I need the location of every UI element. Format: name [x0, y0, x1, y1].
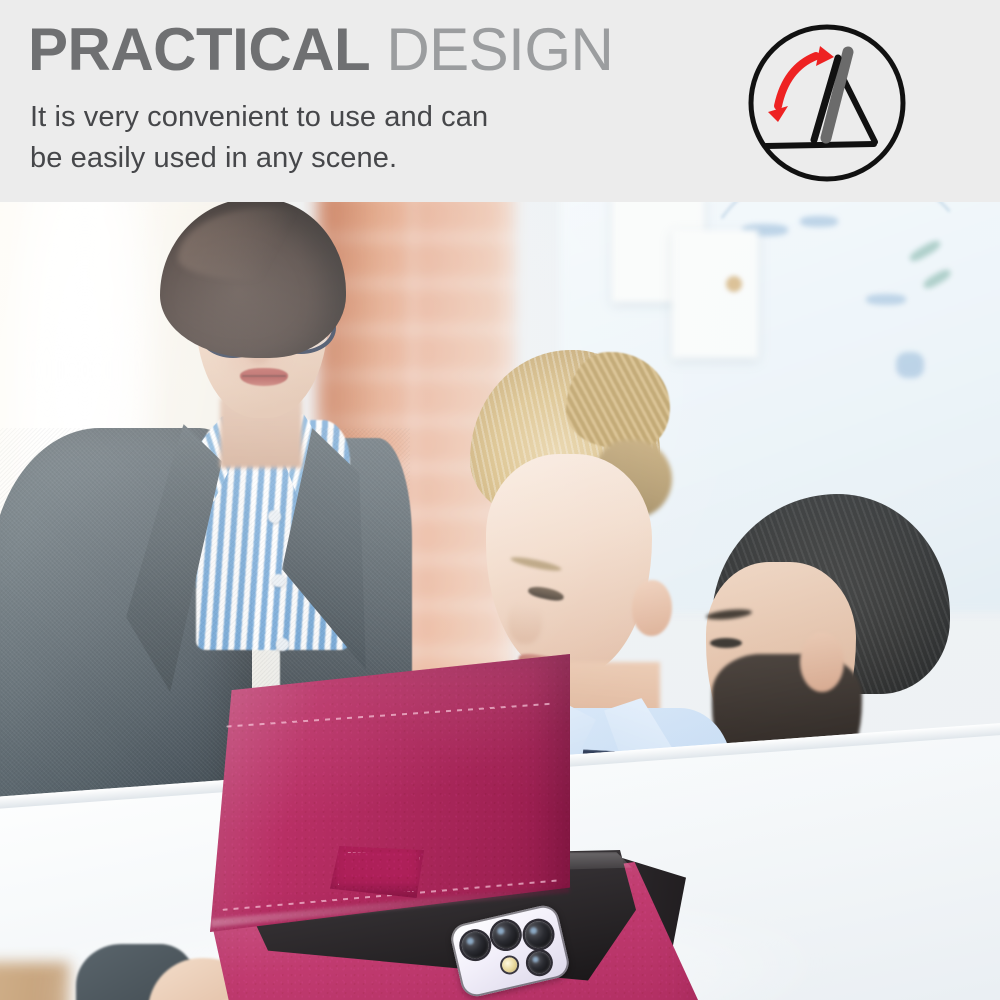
subtitle-line-1: It is very convenient to use and can — [30, 97, 488, 138]
header-band: PRACTICAL DESIGN It is very convenient t… — [0, 0, 1000, 202]
camera-flash — [501, 956, 519, 974]
subtitle: It is very convenient to use and can be … — [30, 97, 488, 179]
camera-lens-telephoto — [522, 918, 554, 950]
wallet-case-product — [0, 202, 1000, 1000]
camera-lens-ultrawide — [490, 919, 522, 951]
page-title: PRACTICAL DESIGN — [28, 16, 613, 84]
subtitle-line-2: be easily used in any scene. — [30, 138, 488, 179]
product-lifestyle-photo — [0, 202, 1000, 1000]
headline-strong: PRACTICAL — [28, 16, 370, 83]
adjustable-kickstand-icon — [742, 18, 912, 188]
product-feature-poster: PRACTICAL DESIGN It is very convenient t… — [0, 0, 1000, 1000]
camera-lens-macro — [526, 949, 552, 975]
camera-lens-wide — [459, 929, 491, 961]
headline-light: DESIGN — [386, 16, 613, 83]
